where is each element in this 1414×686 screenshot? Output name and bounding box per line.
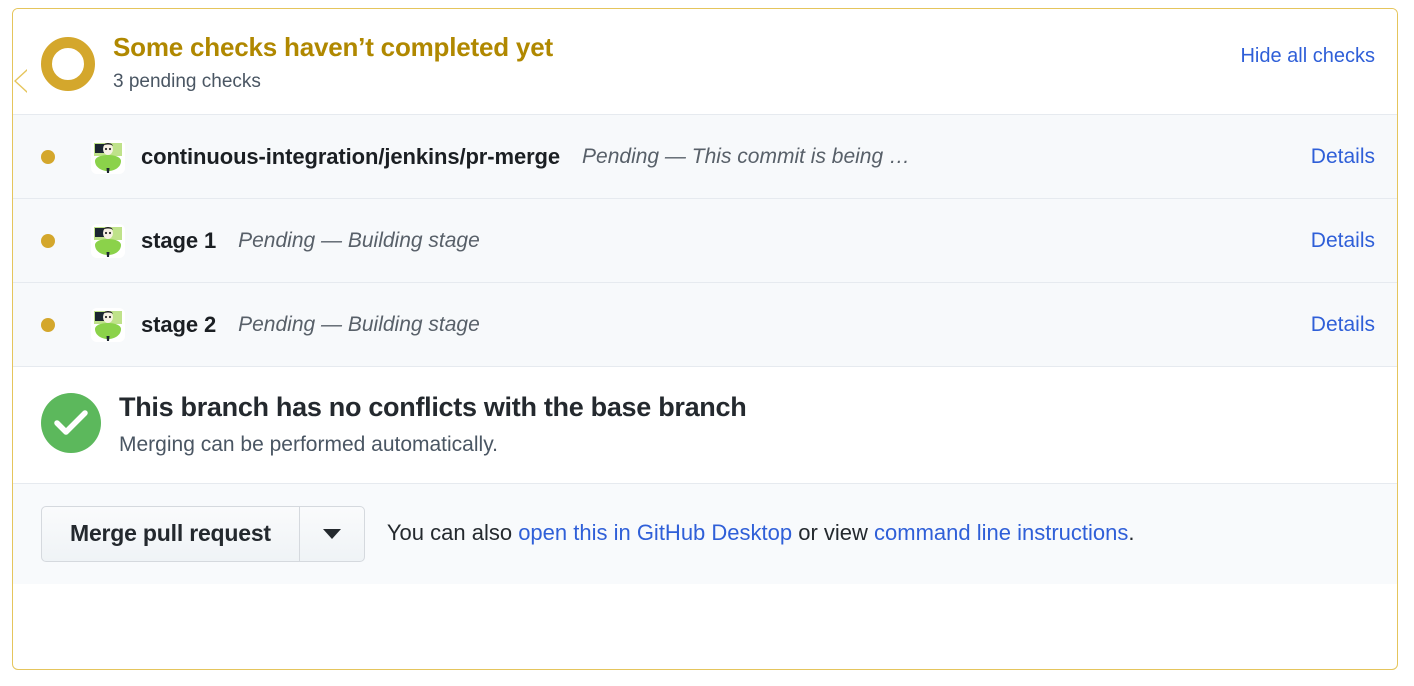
page-title: Some checks haven’t completed yet — [113, 31, 1240, 64]
check-details-link[interactable]: Details — [1311, 313, 1375, 337]
table-row[interactable]: stage 2 Pending — Building stage Details — [13, 283, 1397, 367]
pending-dot-icon — [41, 234, 55, 248]
table-row[interactable]: stage 1 Pending — Building stage Details — [13, 199, 1397, 283]
check-name: stage 1 — [141, 228, 216, 254]
merge-status-box: Some checks haven’t completed yet 3 pend… — [12, 8, 1398, 670]
merge-status-text: This branch has no conflicts with the ba… — [119, 391, 746, 456]
merge-conflict-status: This branch has no conflicts with the ba… — [13, 367, 1397, 483]
merge-status-title: This branch has no conflicts with the ba… — [119, 391, 746, 423]
github-desktop-link[interactable]: open this in GitHub Desktop — [518, 520, 792, 545]
checks-list: continuous-integration/jenkins/pr-merge … — [13, 115, 1397, 367]
check-status: Pending — This commit is being … — [582, 145, 910, 169]
checks-header: Some checks haven’t completed yet 3 pend… — [13, 9, 1397, 115]
help-text-middle: or view — [792, 520, 874, 545]
merge-pull-request-button[interactable]: Merge pull request — [41, 506, 299, 562]
check-details-link[interactable]: Details — [1311, 229, 1375, 253]
check-details-link[interactable]: Details — [1311, 145, 1375, 169]
check-status: Pending — Building stage — [238, 313, 480, 337]
merge-status-subtitle: Merging can be performed automatically. — [119, 433, 746, 457]
table-row[interactable]: continuous-integration/jenkins/pr-merge … — [13, 115, 1397, 199]
help-text-after: . — [1128, 520, 1134, 545]
command-line-instructions-link[interactable]: command line instructions — [874, 520, 1128, 545]
pointer-notch — [14, 69, 28, 93]
pending-dot-icon — [41, 318, 55, 332]
pending-ring-icon — [41, 37, 95, 91]
jenkins-avatar-icon — [91, 140, 125, 174]
pending-checks-count: 3 pending checks — [113, 70, 1240, 95]
help-text-before: You can also — [387, 520, 518, 545]
merge-footer: Merge pull request You can also open thi… — [13, 484, 1397, 584]
chevron-down-icon — [323, 529, 341, 539]
pending-dot-icon — [41, 150, 55, 164]
success-check-icon — [41, 393, 101, 453]
hide-all-checks-link[interactable]: Hide all checks — [1240, 45, 1375, 68]
check-name: continuous-integration/jenkins/pr-merge — [141, 144, 560, 170]
merge-button-group: Merge pull request — [41, 506, 365, 562]
jenkins-avatar-icon — [91, 224, 125, 258]
merge-dropdown-button[interactable] — [299, 506, 365, 562]
checks-header-text: Some checks haven’t completed yet 3 pend… — [113, 31, 1240, 94]
check-name: stage 2 — [141, 312, 216, 338]
merge-help-text: You can also open this in GitHub Desktop… — [387, 519, 1135, 548]
jenkins-avatar-icon — [91, 308, 125, 342]
check-status: Pending — Building stage — [238, 229, 480, 253]
